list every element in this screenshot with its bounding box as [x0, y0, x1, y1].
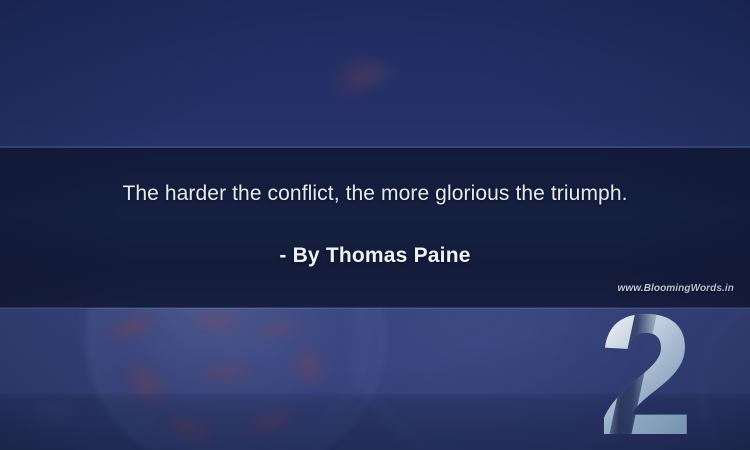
band-divider-top: [0, 146, 750, 148]
author-text: - By Thomas Paine: [0, 244, 750, 268]
slide-number-graphic: 2 2: [596, 300, 726, 448]
watermark: www.BloomingWords.in: [618, 283, 734, 294]
slide-number: 2 2: [596, 300, 726, 448]
quote-poster: The harder the conflict, the more glorio…: [0, 0, 750, 450]
quote-text: The harder the conflict, the more glorio…: [0, 180, 750, 208]
